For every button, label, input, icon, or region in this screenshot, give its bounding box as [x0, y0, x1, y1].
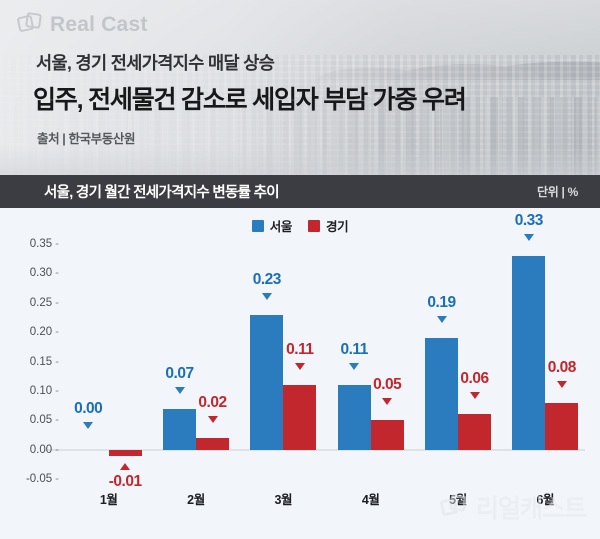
bar-seoul-3월[interactable] — [250, 315, 283, 450]
bar-seoul-2월[interactable] — [163, 409, 196, 450]
value-label-gyeonggi-6월: 0.08 — [548, 359, 576, 377]
bar-seoul-6월[interactable] — [512, 256, 545, 450]
value-label-seoul-2월: 0.07 — [165, 365, 193, 383]
marker-triangle-down-icon — [295, 363, 305, 370]
watermark-text: 리얼캐스트 — [476, 489, 586, 525]
value-label-seoul-1월: 0.00 — [74, 400, 102, 418]
marker-triangle-down-icon — [524, 234, 534, 241]
header-title: 입주, 전세물건 감소로 세입자 부담 가중 우려 — [33, 80, 466, 116]
value-label-gyeonggi-5월: 0.06 — [460, 370, 488, 388]
chart-area: 서울경기 0.35-0.30-0.25-0.20-0.15-0.10-0.05-… — [0, 208, 600, 539]
bar-gyeonggi-2월[interactable] — [196, 438, 229, 450]
y-axis-tick: 0.35- — [30, 238, 63, 250]
header-banner: Real Cast 서울, 경기 전세가격지수 매달 상승 입주, 전세물건 감… — [0, 0, 600, 175]
legend-swatch-icon — [308, 220, 320, 232]
bar-gyeonggi-6월[interactable] — [545, 403, 578, 450]
legend-item-gyeonggi[interactable]: 경기 — [308, 216, 348, 235]
y-axis-tick: 0.25- — [30, 297, 63, 309]
y-axis-tick: 0.00- — [30, 444, 63, 456]
marker-triangle-down-icon — [437, 316, 447, 323]
value-label-gyeonggi-3월: 0.11 — [286, 341, 313, 359]
legend-item-seoul[interactable]: 서울 — [252, 216, 292, 235]
marker-triangle-down-icon — [470, 392, 480, 399]
bar-seoul-5월[interactable] — [425, 338, 458, 450]
realcast-logo-text: Real Cast — [50, 13, 148, 37]
marker-triangle-down-icon — [557, 381, 567, 388]
legend-label: 경기 — [326, 216, 348, 235]
realcast-logo[interactable]: Real Cast — [18, 12, 148, 38]
header-subtitle: 서울, 경기 전세가격지수 매달 상승 — [36, 50, 274, 75]
bar-gyeonggi-4월[interactable] — [371, 420, 404, 449]
value-label-gyeonggi-4월: 0.05 — [373, 376, 401, 394]
legend-swatch-icon — [252, 220, 264, 232]
x-axis-label-5월: 5월 — [449, 489, 467, 508]
infographic-page: Real Cast 서울, 경기 전세가격지수 매달 상승 입주, 전세물건 감… — [0, 0, 600, 539]
value-label-seoul-6월: 0.33 — [515, 212, 543, 230]
value-label-gyeonggi-1월: -0.01 — [109, 473, 142, 491]
plot-region: 0.35-0.30-0.25-0.20-0.15-0.10-0.05-0.00-… — [63, 244, 587, 479]
marker-triangle-up-icon — [120, 463, 130, 470]
marker-triangle-down-icon — [262, 293, 272, 300]
header-source: 출처 | 한국부동산원 — [37, 128, 135, 147]
y-axis-tick: 0.05- — [30, 414, 63, 426]
value-label-seoul-4월: 0.11 — [341, 341, 368, 359]
x-axis-label-6월: 6월 — [537, 489, 555, 508]
legend-label: 서울 — [270, 216, 292, 235]
x-axis-label-3월: 3월 — [275, 489, 293, 508]
realcast-squares-icon — [18, 12, 44, 38]
marker-triangle-down-icon — [208, 416, 218, 423]
marker-triangle-down-icon — [382, 398, 392, 405]
marker-triangle-down-icon — [175, 387, 185, 394]
bar-gyeonggi-5월[interactable] — [458, 414, 491, 449]
y-axis-tick: 0.20- — [30, 326, 63, 338]
chart-legend: 서울경기 — [0, 216, 600, 235]
value-label-seoul-3월: 0.23 — [253, 271, 281, 289]
value-label-seoul-5월: 0.19 — [427, 294, 455, 312]
x-axis-label-1월: 1월 — [100, 489, 118, 508]
chart-unit-label: 단위 | % — [537, 183, 578, 200]
bar-seoul-4월[interactable] — [338, 385, 371, 450]
x-axis-label-4월: 4월 — [362, 489, 380, 508]
value-label-gyeonggi-2월: 0.02 — [198, 394, 226, 412]
header-bottom-fade — [0, 145, 600, 175]
marker-triangle-down-icon — [349, 363, 359, 370]
marker-triangle-down-icon — [83, 422, 93, 429]
y-axis-tick: 0.30- — [30, 267, 63, 279]
y-axis-tick: -0.05- — [26, 473, 63, 485]
x-axis-label-2월: 2월 — [187, 489, 205, 508]
bar-gyeonggi-1월[interactable] — [109, 450, 142, 456]
y-axis-tick: 0.10- — [30, 385, 63, 397]
chart-title-bar: 서울, 경기 월간 전세가격지수 변동률 추이 단위 | % — [0, 175, 600, 208]
bar-gyeonggi-3월[interactable] — [283, 385, 316, 450]
chart-title: 서울, 경기 월간 전세가격지수 변동률 추이 — [44, 181, 279, 202]
y-axis-tick: 0.15- — [30, 356, 63, 368]
